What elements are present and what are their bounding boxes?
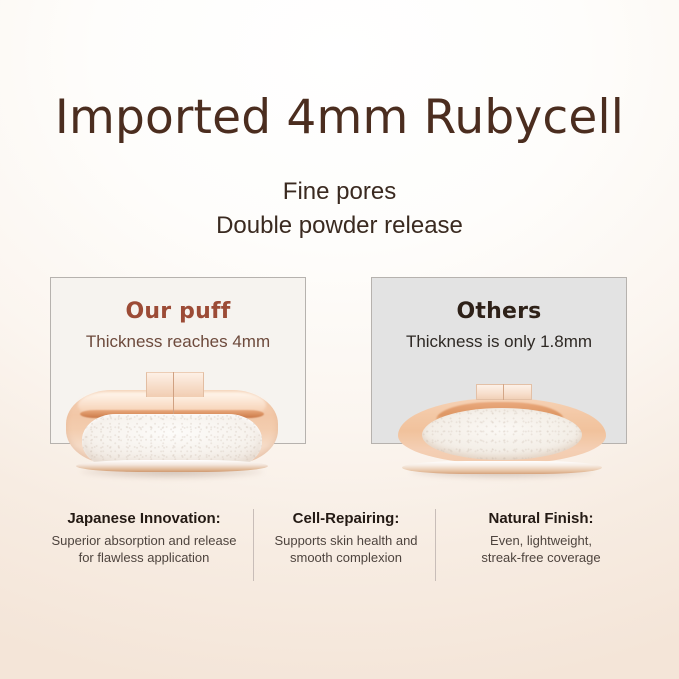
product-infographic: Imported 4mm Rubycell Fine pores Double … — [0, 0, 679, 679]
others-thickness-label: Thickness is only 1.8mm — [372, 332, 626, 352]
others-puff-base-edge — [402, 461, 602, 474]
feature-list: Japanese Innovation: Superior absorption… — [0, 510, 679, 590]
feature-divider — [253, 509, 254, 581]
feature-body-line: for flawless application — [38, 549, 250, 566]
our-puff-shadow — [80, 465, 265, 479]
page-title: Imported 4mm Rubycell — [0, 94, 679, 141]
others-puff-shadow — [410, 465, 595, 479]
feature-body: Even, lightweight, streak-free coverage — [442, 532, 640, 567]
feature-body-line: smooth complexion — [258, 549, 434, 566]
feature-body: Superior absorption and release for flaw… — [38, 532, 250, 567]
subheading-double-powder-release: Double powder release — [0, 212, 679, 240]
feature-body-line: Supports skin health and — [258, 532, 434, 549]
feature-title: Natural Finish: — [442, 510, 640, 527]
feature-japanese-innovation: Japanese Innovation: Superior absorption… — [38, 510, 250, 567]
our-puff-thickness-label: Thickness reaches 4mm — [51, 332, 305, 352]
feature-divider — [435, 509, 436, 581]
others-title: Others — [372, 299, 626, 324]
feature-body-line: Even, lightweight, — [442, 532, 640, 549]
feature-body-line: streak-free coverage — [442, 549, 640, 566]
comparison-panel-our-puff: Our puff Thickness reaches 4mm — [50, 277, 306, 444]
feature-body: Supports skin health and smooth complexi… — [258, 532, 434, 567]
feature-natural-finish: Natural Finish: Even, lightweight, strea… — [442, 510, 640, 567]
feature-title: Cell-Repairing: — [258, 510, 434, 527]
feature-title: Japanese Innovation: — [38, 510, 250, 527]
feature-cell-repairing: Cell-Repairing: Supports skin health and… — [258, 510, 434, 567]
our-puff-title: Our puff — [51, 299, 305, 324]
subheading-fine-pores: Fine pores — [0, 178, 679, 206]
feature-body-line: Superior absorption and release — [38, 532, 250, 549]
comparison-panel-others: Others Thickness is only 1.8mm — [371, 277, 627, 444]
our-puff-base-edge — [76, 460, 268, 472]
